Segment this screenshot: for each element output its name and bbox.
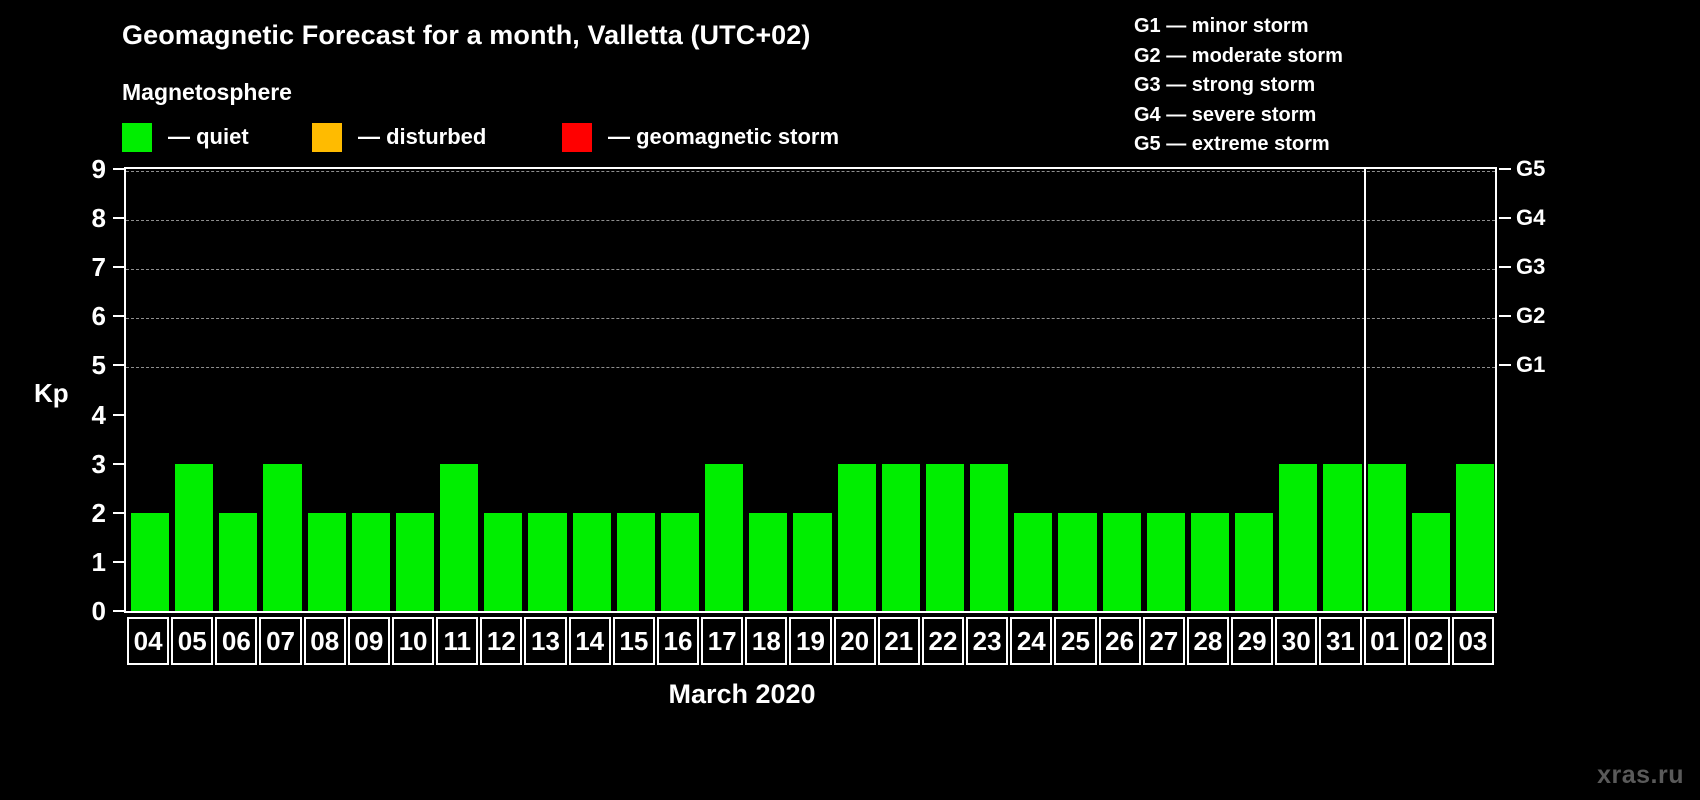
- x-axis-day-08: 08: [304, 617, 346, 665]
- y-tick-label-7: 7: [36, 254, 106, 280]
- x-axis-day-03: 03: [1452, 617, 1494, 665]
- x-axis-day-22: 22: [922, 617, 964, 665]
- green-square-swatch: [122, 123, 152, 152]
- y-tick-mark-8: [113, 217, 124, 219]
- y-tick-mark-2: [113, 512, 124, 514]
- g-scale-label-G5: G5: [1516, 158, 1545, 180]
- y-tick-mark-1: [113, 561, 124, 563]
- g-scale-tick-G1: [1499, 364, 1511, 366]
- x-axis-day-09: 09: [348, 617, 390, 665]
- month-divider-layer: [126, 169, 1495, 611]
- storm-scale-line-2: G2 — moderate storm: [1134, 42, 1343, 72]
- y-tick-label-9: 9: [36, 156, 106, 182]
- x-axis-day-01: 01: [1364, 617, 1406, 665]
- x-axis-day-19: 19: [789, 617, 831, 665]
- x-axis-day-30: 30: [1275, 617, 1317, 665]
- x-axis-day-labels: 0405060708091011121314151617181920212223…: [124, 617, 1497, 665]
- storm-scale-key: G1 — minor stormG2 — moderate stormG3 — …: [1134, 12, 1343, 160]
- x-axis-day-21: 21: [878, 617, 920, 665]
- x-axis-day-15: 15: [613, 617, 655, 665]
- x-axis-day-02: 02: [1408, 617, 1450, 665]
- x-axis-day-29: 29: [1231, 617, 1273, 665]
- y-tick-mark-0: [113, 610, 124, 612]
- x-axis-label: March 2020: [0, 679, 1700, 710]
- y-tick-label-3: 3: [36, 451, 106, 477]
- legend-item-label: — disturbed: [358, 124, 486, 150]
- g-scale-tick-G4: [1499, 217, 1511, 219]
- watermark: xras.ru: [1597, 761, 1684, 790]
- legend-item-label: — geomagnetic storm: [608, 124, 839, 150]
- legend-item-2: — geomagnetic storm: [562, 123, 839, 153]
- g-scale-label-G2: G2: [1516, 305, 1545, 327]
- legend-item-1: — disturbed: [312, 123, 486, 153]
- month-boundary-divider: [1364, 169, 1366, 611]
- x-axis-label-text: March 2020: [668, 679, 815, 709]
- x-axis-day-06: 06: [215, 617, 257, 665]
- legend-item-label: — quiet: [168, 124, 249, 150]
- y-tick-label-8: 8: [36, 205, 106, 231]
- storm-scale-line-5: G5 — extreme storm: [1134, 130, 1343, 160]
- y-tick-label-1: 1: [36, 549, 106, 575]
- x-axis-day-13: 13: [524, 617, 566, 665]
- g-scale-label-G4: G4: [1516, 207, 1545, 229]
- x-axis-day-31: 31: [1319, 617, 1361, 665]
- chart-subtitle: Magnetosphere: [122, 79, 292, 106]
- y-tick-mark-5: [113, 364, 124, 366]
- x-axis-day-18: 18: [745, 617, 787, 665]
- y-tick-label-6: 6: [36, 303, 106, 329]
- x-axis-day-27: 27: [1143, 617, 1185, 665]
- x-axis-day-05: 05: [171, 617, 213, 665]
- y-tick-label-5: 5: [36, 352, 106, 378]
- x-axis-day-11: 11: [436, 617, 478, 665]
- y-tick-mark-9: [113, 168, 124, 170]
- orange-square-swatch: [312, 123, 342, 152]
- g-scale-tick-G2: [1499, 315, 1511, 317]
- g-scale-tick-G3: [1499, 266, 1511, 268]
- g-scale-tick-G5: [1499, 168, 1511, 170]
- y-tick-label-0: 0: [36, 598, 106, 624]
- y-tick-mark-4: [113, 414, 124, 416]
- x-axis-day-26: 26: [1099, 617, 1141, 665]
- x-axis-day-12: 12: [480, 617, 522, 665]
- x-axis-day-28: 28: [1187, 617, 1229, 665]
- storm-scale-line-1: G1 — minor storm: [1134, 12, 1343, 42]
- x-axis-day-23: 23: [966, 617, 1008, 665]
- x-axis-day-20: 20: [834, 617, 876, 665]
- x-axis-day-24: 24: [1010, 617, 1052, 665]
- page-title: Geomagnetic Forecast for a month, Vallet…: [122, 20, 811, 51]
- x-axis-day-04: 04: [127, 617, 169, 665]
- x-axis-day-14: 14: [569, 617, 611, 665]
- x-axis-day-25: 25: [1054, 617, 1096, 665]
- x-axis-day-17: 17: [701, 617, 743, 665]
- y-axis-label: Kp: [34, 378, 69, 409]
- y-tick-label-2: 2: [36, 500, 106, 526]
- x-axis-day-07: 07: [259, 617, 301, 665]
- x-axis-day-16: 16: [657, 617, 699, 665]
- x-axis-day-10: 10: [392, 617, 434, 665]
- y-tick-mark-6: [113, 315, 124, 317]
- storm-scale-line-4: G4 — severe storm: [1134, 101, 1343, 131]
- red-square-swatch: [562, 123, 592, 152]
- chart-plot-area: [124, 167, 1497, 613]
- g-scale-label-G1: G1: [1516, 354, 1545, 376]
- y-tick-mark-3: [113, 463, 124, 465]
- y-tick-mark-7: [113, 266, 124, 268]
- storm-scale-line-3: G3 — strong storm: [1134, 71, 1343, 101]
- g-scale-label-G3: G3: [1516, 256, 1545, 278]
- legend-item-0: — quiet: [122, 123, 249, 153]
